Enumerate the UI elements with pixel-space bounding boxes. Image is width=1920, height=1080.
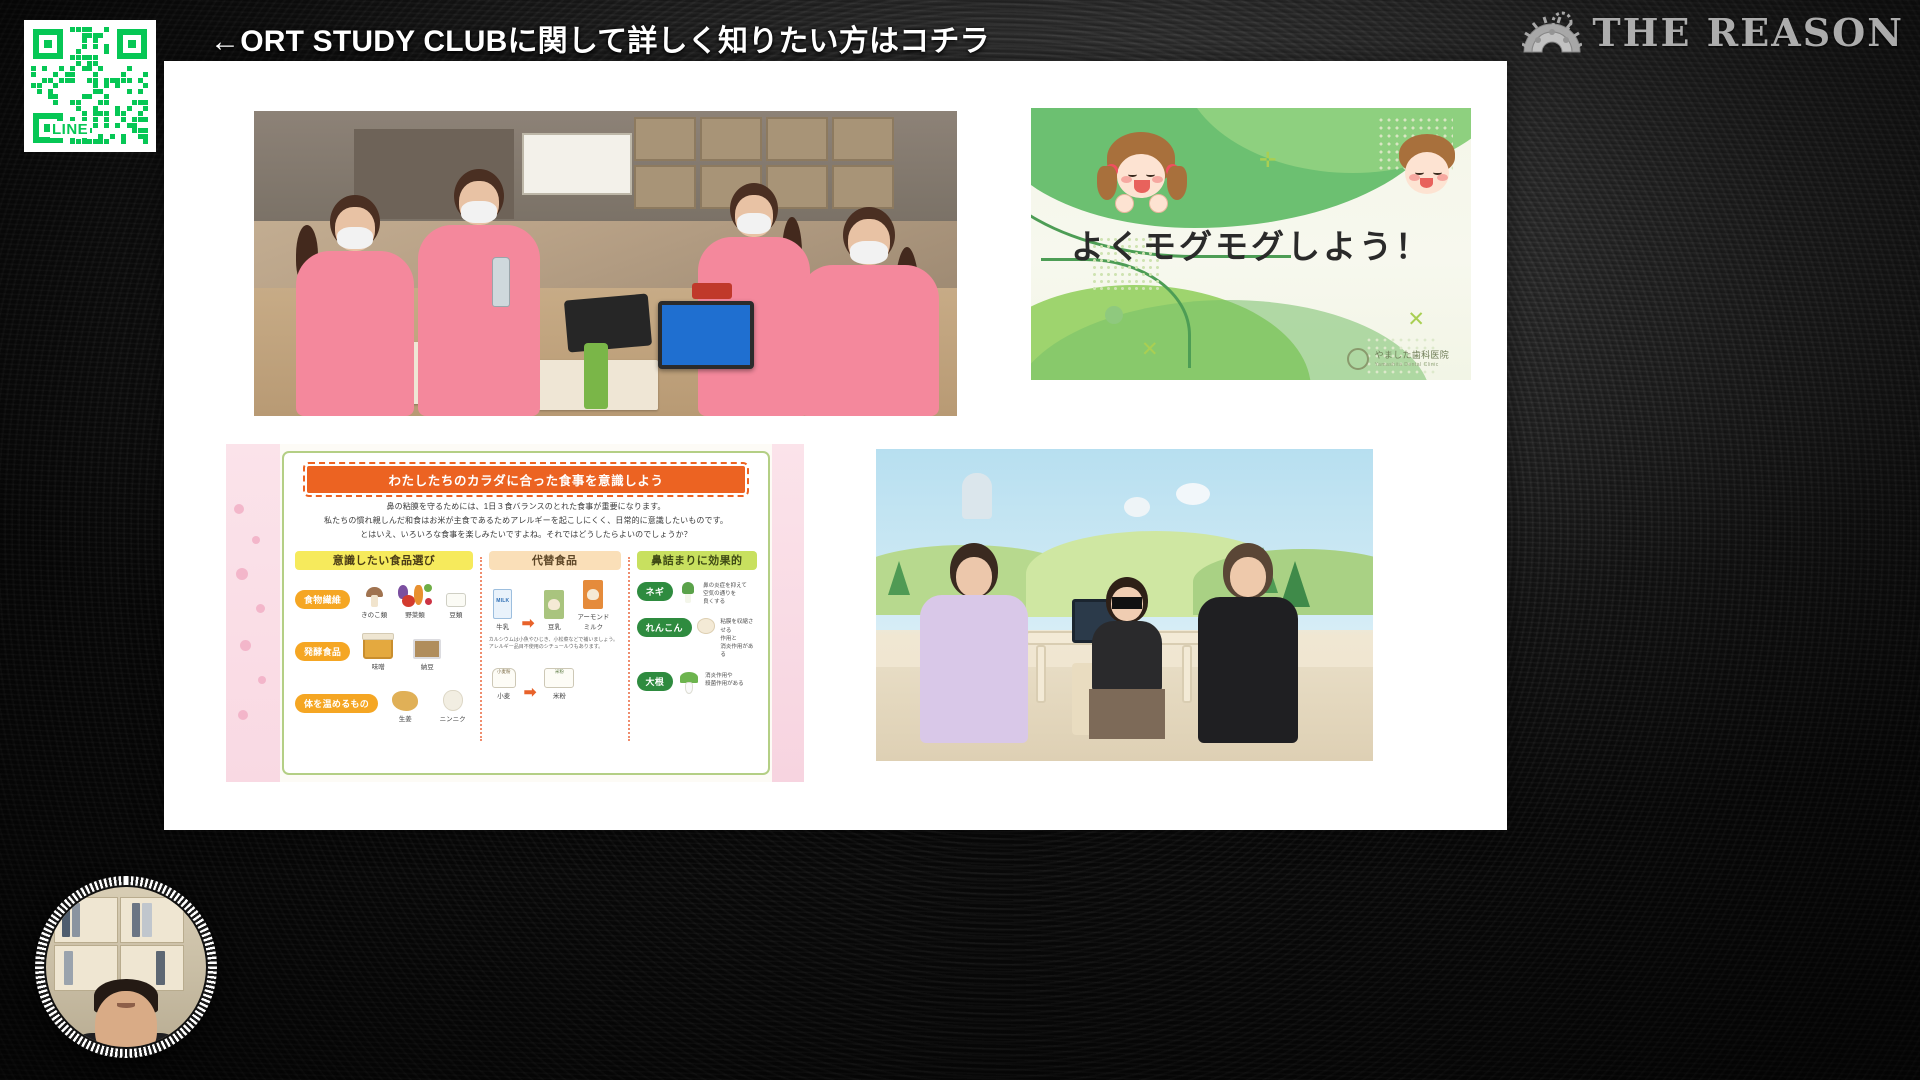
poster-paragraph-1: 鼻の粘膜を守るためには、1日３食バランスのとれた食事が重要になります。 <box>295 500 757 513</box>
food-item: 小麦粉 小麦 <box>489 662 519 700</box>
food-label: 納豆 <box>421 664 434 671</box>
column-header: 意識したい食品選び <box>295 551 473 570</box>
food-label: 生姜 <box>399 716 412 723</box>
green-illustration-slide: ✛ ✕ ✕ よくモグモグしよう！ やました歯科医院 Yamashita Dent… <box>1031 108 1471 380</box>
arrow-right-icon: ➡ <box>524 685 537 700</box>
almondmilk-carton-icon <box>574 583 612 609</box>
food-item: きのこ類 <box>357 581 391 619</box>
gear-cog-icon <box>1522 10 1582 54</box>
presenter-webcam[interactable] <box>35 876 217 1058</box>
food-item: 米粉 米粉 <box>541 662 577 700</box>
food-group-row: 食物繊維 きのこ類 <box>295 581 473 619</box>
person-figure <box>290 195 420 416</box>
group-pill: れんこん <box>637 618 692 637</box>
line-qr-code[interactable]: LINE <box>24 20 156 152</box>
poster-paragraph-3: とはいえ、いろいろな食事を楽しみたいですよね。それではどうしたらよいのでしょうか… <box>295 528 757 541</box>
poster-right-decoration <box>772 444 804 782</box>
poster-column-foods: 意識したい食品選び 食物繊維 きのこ類 <box>295 551 480 747</box>
group-pill: 発酵食品 <box>295 642 350 661</box>
page-title: ←ORT STUDY CLUBに関して詳しく知りたい方はコチラ <box>210 16 990 60</box>
food-label: ニンニク <box>440 716 466 723</box>
mushroom-icon <box>357 581 391 607</box>
nasal-item: れんこん 粘膜を収縮させる 作用と 消炎作用がある <box>637 618 757 659</box>
group-pill: 体を温めるもの <box>295 694 378 713</box>
soymilk-carton-icon <box>539 593 569 619</box>
nutrition-infographic: わたしたちのカラダに合った食事を意識しよう 鼻の粘膜を守るためには、1日３食バラ… <box>226 444 804 782</box>
food-label: 米粉 <box>553 693 566 700</box>
brand-name: THE REASON <box>1592 10 1904 55</box>
food-group-row: 発酵食品 味噌 納豆 <box>295 633 473 671</box>
poster-paragraph-2: 私たちの慣れ親しんだ和食はお米が主食であるためアレルギーを起こしにくく、日常的に… <box>295 514 757 527</box>
food-item: MILK 牛乳 <box>489 593 517 631</box>
group-pill: ネギ <box>637 582 674 601</box>
clinic-name: やました歯科医院 <box>1375 350 1449 361</box>
parent-figure <box>1194 543 1302 743</box>
rice-flour-icon: 米粉 <box>541 662 577 688</box>
webcam-video <box>44 885 208 1049</box>
clinic-logo: やました歯科医院 Yamashita Dental Clinic <box>1347 348 1449 370</box>
food-label: アーモンド ミルク <box>577 614 609 631</box>
tooth-leaf-logo-icon <box>1347 348 1369 370</box>
miso-icon <box>357 633 399 659</box>
green-slide-title: よくモグモグしよう！ <box>1031 220 1471 268</box>
girl-mascot-icon <box>1093 132 1189 216</box>
wheat-flour-icon: 小麦粉 <box>489 662 519 688</box>
food-item: 納豆 <box>406 633 448 671</box>
substitute-note: カルシウムは小魚やひじき、小松菜などで補いましょう。アレルギー品目不使用のシチュ… <box>489 637 621 652</box>
group-pill: 食物繊維 <box>295 590 350 609</box>
blue-tablet <box>658 301 754 369</box>
food-item: 味噌 <box>357 633 399 671</box>
poster-content: わたしたちのカラダに合った食事を意識しよう 鼻の粘膜を守るためには、1日３食バラ… <box>282 451 770 775</box>
child-figure <box>1088 577 1166 743</box>
radish-icon <box>678 672 700 694</box>
lotus-root-icon <box>697 618 716 634</box>
poster-left-decoration <box>226 444 280 782</box>
poster-columns: 意識したい食品選び 食物繊維 きのこ類 <box>295 551 757 747</box>
brand-logo: THE REASON <box>1522 4 1904 60</box>
food-label: 豆乳 <box>548 624 561 631</box>
poster-banner: わたしたちのカラダに合った食事を意識しよう <box>307 466 746 493</box>
substitute-row-2: 小麦粉 小麦 ➡ 米粉 米粉 <box>489 662 621 700</box>
green-bottle <box>584 343 608 409</box>
screen-root: ←ORT STUDY CLUBに関して詳しく知りたい方はコチラ LINE <box>0 0 1920 1080</box>
tumbler <box>492 257 510 307</box>
person-figure <box>794 207 944 416</box>
food-label: 小麦 <box>497 693 510 700</box>
clinic-kids-room-photo <box>876 449 1373 761</box>
clinic-name-latin: Yamashita Dental Clinic <box>1375 362 1449 368</box>
ginger-icon <box>385 685 425 711</box>
presentation-slide: ✛ ✕ ✕ よくモグモグしよう！ やました歯科医院 Yamashita Dent… <box>164 61 1507 830</box>
nasal-desc: 鼻の炎症を抑えて 空気の通りを 良くする <box>703 582 747 607</box>
poster-column-nasal: 鼻詰まりに効果的 ネギ 鼻の炎症を抑えて 空気の通りを 良くする れんこん 粘膜… <box>630 551 757 747</box>
leek-icon <box>678 582 698 603</box>
vegetables-icon <box>398 581 432 607</box>
natto-icon <box>406 633 448 659</box>
food-item: 野菜類 <box>398 581 432 619</box>
food-label: 牛乳 <box>496 624 509 631</box>
line-label: LINE <box>50 121 90 138</box>
nasal-desc: 粘膜を収縮させる 作用と 消炎作用がある <box>720 618 757 659</box>
arrow-right-icon: ➡ <box>522 616 535 631</box>
person-figure <box>414 169 544 416</box>
tofu-icon <box>439 581 473 607</box>
hygienist-figure <box>916 543 1032 743</box>
column-header: 代替食品 <box>489 551 621 570</box>
column-header: 鼻詰まりに効果的 <box>637 551 757 570</box>
group-pill: 大根 <box>637 672 674 691</box>
food-item: 豆乳 <box>539 593 569 631</box>
food-group-row: 体を温めるもの 生姜 ニンニク <box>295 685 473 723</box>
substitute-row: MILK 牛乳 ➡ 豆乳 アーモンド ミルク <box>489 583 621 631</box>
staff-meeting-photo <box>254 111 957 416</box>
food-label: 野菜類 <box>405 612 425 619</box>
garlic-icon <box>432 685 472 711</box>
boy-mascot-icon <box>1389 134 1465 206</box>
food-item: 生姜 <box>385 685 425 723</box>
food-item: アーモンド ミルク <box>574 583 612 631</box>
food-label: きのこ類 <box>361 612 387 619</box>
nasal-item: ネギ 鼻の炎症を抑えて 空気の通りを 良くする <box>637 582 757 607</box>
food-item: 豆類 <box>439 581 473 619</box>
dark-tablet <box>564 293 652 352</box>
nasal-item: 大根 消炎作用や 殺菌作用がある <box>637 672 757 694</box>
food-label: 味噌 <box>372 664 385 671</box>
poster-column-alternatives: 代替食品 MILK 牛乳 ➡ 豆乳 <box>482 551 628 747</box>
nasal-desc: 消炎作用や 殺菌作用がある <box>705 672 744 689</box>
food-label: 豆類 <box>449 612 462 619</box>
food-item: ニンニク <box>432 685 472 723</box>
milk-carton-icon: MILK <box>489 593 517 619</box>
